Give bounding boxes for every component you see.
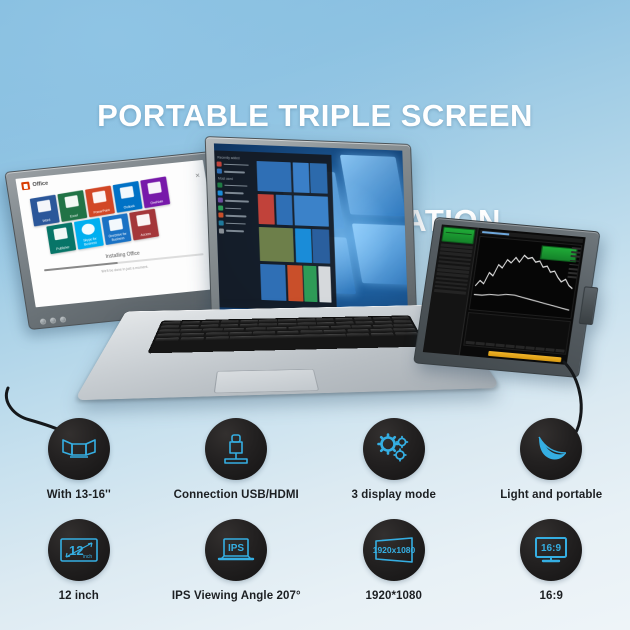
- power-button[interactable]: [40, 318, 47, 325]
- office-tile-label: OneDrive for Business: [104, 230, 131, 242]
- usb-connector-icon: [205, 418, 267, 480]
- office-tile: Publisher: [46, 222, 76, 254]
- office-tile: Excel: [57, 190, 87, 222]
- screen-diagonal-icon: 12 inch: [48, 519, 110, 581]
- windows-desktop: Recently added Most used: [214, 143, 408, 321]
- product-banner: PORTABLE TRIPLE SCREEN LAPTOP WORKSTATIO…: [0, 0, 630, 630]
- trading-main-panel: [460, 228, 585, 365]
- outlook-icon: [120, 186, 135, 199]
- left-monitor-screen: Office ✕ Word Excel: [15, 160, 223, 307]
- office-tile-label: Publisher: [50, 244, 76, 252]
- triple-screen-icon: [48, 418, 110, 480]
- powerpoint-icon: [92, 190, 107, 203]
- icon-value-text: IPS: [228, 543, 244, 554]
- start-tile[interactable]: [295, 229, 312, 263]
- laptop-trackpad[interactable]: [214, 369, 320, 394]
- feature-display-mode: 3 display mode: [315, 418, 473, 501]
- office-tile: PowerPoint: [85, 185, 115, 217]
- price-chart: [469, 236, 582, 319]
- feather-icon: [520, 418, 582, 480]
- office-tile: Skype for Business: [74, 218, 104, 250]
- monitor-ratio-icon: 16:9: [520, 519, 582, 581]
- excel-icon: [64, 195, 79, 208]
- device-photo-group: Office ✕ Word Excel: [0, 128, 630, 413]
- feature-panel-size: 12 inch 12 inch: [0, 519, 158, 602]
- feature-panel-type: IPS IPS Viewing Angle 207°: [158, 519, 316, 602]
- start-tile[interactable]: [276, 195, 293, 226]
- start-tile[interactable]: [258, 194, 275, 225]
- left-monitor: Office ✕ Word Excel: [4, 151, 236, 330]
- office-tile: OneNote: [140, 176, 170, 208]
- start-tile[interactable]: [318, 266, 331, 303]
- office-tile-label: Excel: [61, 211, 87, 219]
- feature-label: 3 display mode: [352, 489, 436, 501]
- office-tile-label: Skype for Business: [77, 235, 104, 247]
- feature-label: Connection USB/HDMI: [174, 489, 299, 501]
- office-tile-label: OneNote: [144, 198, 170, 206]
- feature-label: 1920*1080: [365, 590, 422, 602]
- start-menu-app-row[interactable]: [217, 161, 253, 167]
- start-menu-app-list[interactable]: Recently added Most used: [214, 150, 259, 309]
- office-tile: Outlook: [113, 181, 143, 213]
- right-monitor: [413, 217, 601, 378]
- office-tile: OneDrive for Business: [102, 213, 132, 245]
- trading-button-row[interactable]: [466, 340, 565, 352]
- office-tile-label: Outlook: [116, 202, 142, 210]
- gears-icon: [363, 418, 425, 480]
- start-menu-app-row[interactable]: [218, 205, 254, 211]
- onedrive-icon: [109, 218, 124, 231]
- feature-screen-size-range: With 13-16'': [0, 418, 158, 501]
- icon-value-text: 16:9: [541, 543, 561, 554]
- ips-laptop-icon: IPS: [205, 519, 267, 581]
- start-tile[interactable]: [287, 265, 303, 302]
- office-tile: Word: [30, 195, 60, 227]
- start-menu-app-row[interactable]: [219, 228, 255, 234]
- feature-label: Light and portable: [500, 489, 602, 501]
- start-tile[interactable]: [303, 265, 318, 302]
- trading-lower-panel: [464, 312, 571, 355]
- start-menu-app-row[interactable]: [217, 182, 253, 188]
- icon-unit-text: inch: [83, 554, 92, 560]
- right-monitor-screen: [423, 224, 586, 364]
- office-app-name: Office: [32, 181, 48, 189]
- feature-label: IPS Viewing Angle 207°: [172, 590, 301, 602]
- select-button[interactable]: [60, 316, 67, 323]
- resolution-screen-icon: 1920x1080: [363, 519, 425, 581]
- access-icon: [136, 214, 151, 227]
- office-tile-label: Word: [33, 216, 59, 224]
- start-tile[interactable]: [257, 161, 292, 193]
- feature-label: With 13-16'': [47, 489, 111, 501]
- feature-portability: Light and portable: [473, 418, 630, 501]
- office-tile: Access: [129, 209, 159, 241]
- office-tile-label: PowerPoint: [88, 207, 114, 215]
- start-menu-section-label: Recently added: [217, 155, 252, 160]
- feature-label: 12 inch: [59, 590, 99, 602]
- publisher-icon: [53, 227, 68, 240]
- skype-icon: [81, 223, 96, 236]
- start-menu-app-row[interactable]: [217, 169, 253, 175]
- feature-aspect-ratio: 16:9 16:9: [473, 519, 630, 602]
- feature-connection: Connection USB/HDMI: [158, 418, 316, 501]
- laptop-screen: Recently added Most used: [214, 143, 408, 321]
- office-titlebar: Office: [21, 180, 49, 191]
- icon-value-text: 12: [69, 543, 83, 558]
- feature-label: 16:9: [540, 590, 563, 602]
- office-logo-icon: [21, 182, 30, 191]
- start-tile[interactable]: [310, 163, 327, 194]
- feature-grid: With 13-16'' Connection USB/HDMI: [0, 418, 630, 630]
- ticker-quote-box: [441, 227, 476, 245]
- office-tile-label: Access: [133, 230, 159, 238]
- start-menu-app-row[interactable]: [219, 220, 255, 226]
- start-tile[interactable]: [312, 229, 329, 263]
- word-icon: [37, 200, 52, 213]
- start-tile[interactable]: [259, 227, 294, 262]
- start-menu-tiles[interactable]: [255, 155, 334, 309]
- laptop-base: [128, 308, 446, 412]
- start-menu-section-label: Most used: [218, 177, 253, 182]
- menu-button[interactable]: [50, 317, 57, 324]
- trading-app: [423, 224, 586, 364]
- onenote-icon: [147, 181, 162, 194]
- start-tile[interactable]: [293, 196, 328, 228]
- feature-resolution: 1920x1080 1920*1080: [315, 519, 473, 602]
- feature-row-1: With 13-16'' Connection USB/HDMI: [0, 418, 630, 501]
- start-menu-app-row[interactable]: [218, 190, 254, 196]
- start-tile[interactable]: [292, 162, 309, 193]
- start-menu-app-row[interactable]: [218, 198, 254, 204]
- start-tile[interactable]: [260, 264, 286, 301]
- feature-row-2: 12 inch 12 inch IPS IPS Viewing Angle 20…: [0, 519, 630, 602]
- start-menu[interactable]: Recently added Most used: [214, 150, 336, 312]
- office-installer-window: Office ✕ Word Excel: [15, 160, 223, 307]
- start-menu-app-row[interactable]: [218, 213, 254, 219]
- icon-value-text: 1920x1080: [372, 545, 415, 555]
